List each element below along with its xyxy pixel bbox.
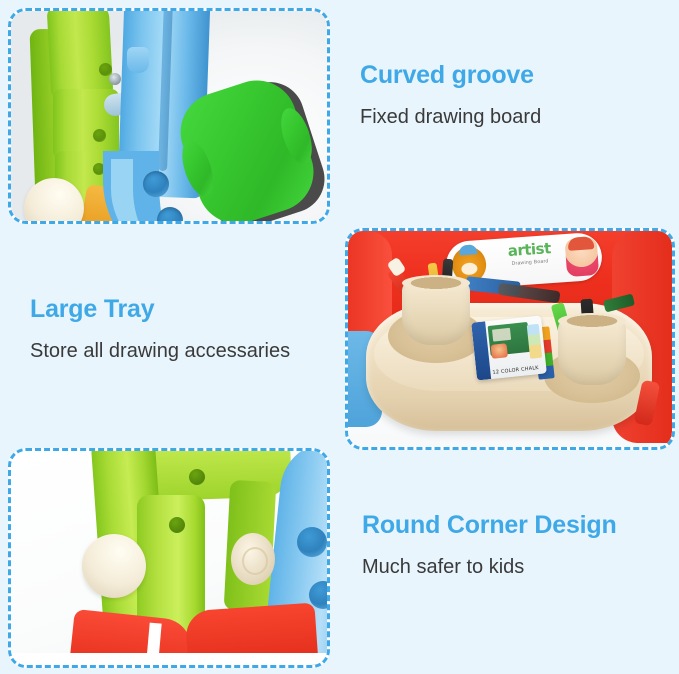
feature-description: Store all drawing accessaries [30, 338, 300, 365]
photo-panel-curved-groove [8, 8, 330, 224]
feature-heading: Large Tray [30, 296, 300, 324]
photo-panel-round-corner [8, 448, 330, 668]
rail-recess-icon [143, 171, 169, 197]
green-frame-leg-upper [47, 11, 114, 99]
photo-bottom-fade [11, 653, 327, 665]
feature-description: Much safer to kids [362, 554, 662, 581]
feature-description: Fixed drawing board [360, 104, 660, 131]
screw-icon [109, 73, 121, 85]
photo-large-tray: artist Drawing Board [348, 231, 672, 447]
girl-character-icon [565, 237, 600, 277]
chalk-color-swatches [527, 324, 542, 359]
rail-recess-icon [297, 527, 327, 557]
pen-cup-left [402, 281, 470, 345]
brand-text-wrap: artist Drawing Board [491, 240, 568, 268]
photo-panel-large-tray: artist Drawing Board [345, 228, 675, 450]
feature-text-curved-groove: Curved groove Fixed drawing board [360, 62, 660, 131]
chalk-box: 12 COLOR CHALK [471, 316, 547, 381]
rail-tab [127, 47, 149, 73]
chalk-box-label: 12 COLOR CHALK [492, 365, 539, 376]
cream-star-knob [25, 179, 83, 221]
cup-rim [402, 275, 470, 291]
feature-text-large-tray: Large Tray Store all drawing accessaries [30, 296, 300, 365]
cream-round-knob [231, 533, 275, 585]
screw-hole-icon [189, 469, 205, 485]
pen-cup-right [558, 319, 626, 385]
infographic-canvas: Curved groove Fixed drawing board Large … [0, 0, 679, 674]
cream-star-knob [83, 535, 145, 597]
screw-hole-icon [93, 129, 106, 142]
chalk-box-character [491, 343, 508, 359]
screw-hole-icon [169, 517, 185, 533]
cup-rim [558, 313, 626, 329]
feature-text-round-corner: Round Corner Design Much safer to kids [362, 512, 662, 581]
feature-heading: Curved groove [360, 62, 660, 90]
photo-curved-groove [11, 11, 327, 221]
photo-round-corner [11, 451, 327, 665]
green-leg-center [137, 495, 205, 633]
feature-heading: Round Corner Design [362, 512, 662, 540]
